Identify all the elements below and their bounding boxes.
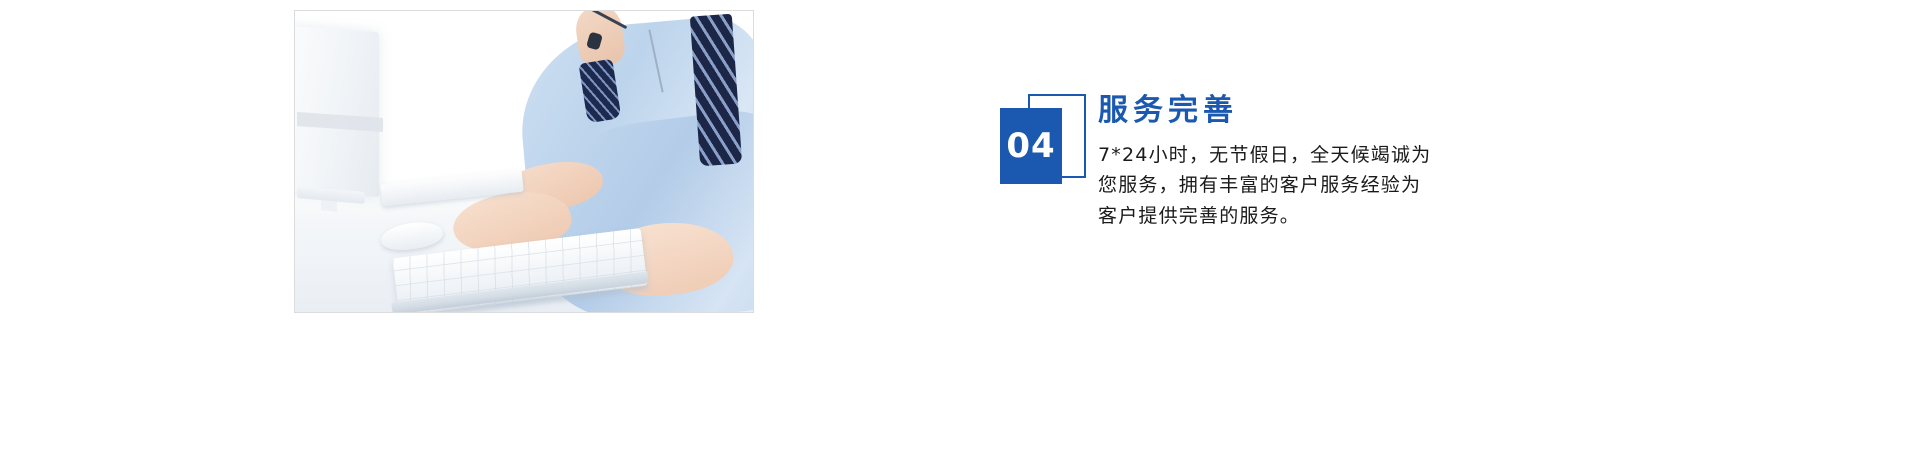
service-photo (295, 11, 753, 312)
description-line-1: 7*24小时，无节假日，全天候竭诚为 (1098, 140, 1498, 171)
badge-filled-square: 04 (1000, 108, 1062, 184)
badge-number: 04 (1006, 129, 1055, 163)
service-photo-frame (294, 10, 754, 313)
feature-heading: 服务完善 (1098, 92, 1518, 130)
feature-text-column: 服务完善 7*24小时，无节假日，全天候竭诚为 您服务，拥有丰富的客户服务经验为… (1098, 92, 1518, 232)
feature-content: 04 服务完善 7*24小时，无节假日，全天候竭诚为 您服务，拥有丰富的客户服务… (1000, 92, 1560, 262)
feature-description: 7*24小时，无节假日，全天候竭诚为 您服务，拥有丰富的客户服务经验为 客户提供… (1098, 140, 1498, 232)
promo-section: 04 服务完善 7*24小时，无节假日，全天候竭诚为 您服务，拥有丰富的客户服务… (0, 0, 1920, 452)
step-badge: 04 (1000, 108, 1086, 192)
monitor-screen-icon (295, 26, 379, 197)
description-line-3: 客户提供完善的服务。 (1098, 201, 1498, 232)
description-line-2: 您服务，拥有丰富的客户服务经验为 (1098, 170, 1498, 201)
